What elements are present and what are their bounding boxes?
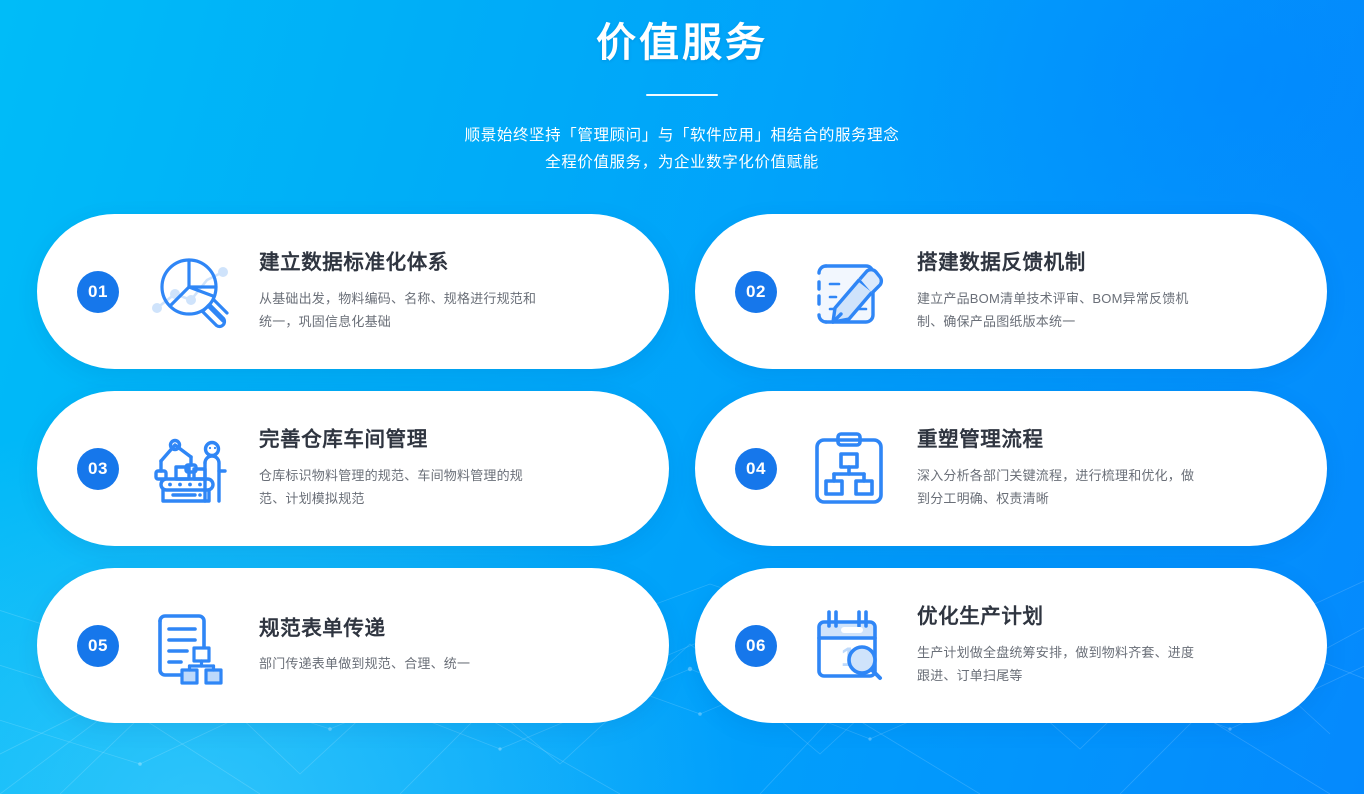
value-card-04[interactable]: 04 重塑管理流程 深入分析各部门关键流程，进行梳理和优化，做 xyxy=(695,391,1327,546)
card-title: 搭建数据反馈机制 xyxy=(917,250,1295,276)
page-header: 价值服务 顺景始终坚持「管理顾问」与「软件应用」相结合的服务理念 全程价值服务，… xyxy=(0,0,1364,176)
card-description: 部门传递表单做到规范、合理、统一 xyxy=(259,652,589,675)
title-divider xyxy=(646,94,718,96)
card-description-line-1: 部门传递表单做到规范、合理、统一 xyxy=(259,652,589,675)
clipboard-orgchart-icon xyxy=(797,419,901,519)
card-description-line-1: 从基础出发，物料编码、名称、规格进行规范和 xyxy=(259,287,589,310)
card-description-line-1: 建立产品BOM清单技术评审、BOM异常反馈机 xyxy=(917,287,1262,310)
card-description-line-1: 生产计划做全盘统筹安排，做到物料齐套、进度 xyxy=(917,641,1262,664)
card-text-block: 完善仓库车间管理 仓库标识物料管理的规范、车间物料管理的规 范、计划模拟规范 xyxy=(259,427,643,510)
card-description-line-1: 仓库标识物料管理的规范、车间物料管理的规 xyxy=(259,464,589,487)
card-number-badge: 04 xyxy=(735,448,777,490)
card-title: 完善仓库车间管理 xyxy=(259,427,637,453)
card-description-line-2: 统一，巩固信息化基础 xyxy=(259,310,589,333)
card-title: 重塑管理流程 xyxy=(917,427,1295,453)
value-card-01[interactable]: 01 xyxy=(37,214,669,369)
value-card-03[interactable]: 03 xyxy=(37,391,669,546)
card-description-line-1: 深入分析各部门关键流程，进行梳理和优化，做 xyxy=(917,464,1262,487)
value-card-02[interactable]: 02 xyxy=(695,214,1327,369)
card-text-block: 优化生产计划 生产计划做全盘统筹安排，做到物料齐套、进度 跟进、订单扫尾等 xyxy=(917,604,1301,687)
card-description: 仓库标识物料管理的规范、车间物料管理的规 范、计划模拟规范 xyxy=(259,464,589,510)
card-title: 优化生产计划 xyxy=(917,604,1295,630)
card-number-badge: 06 xyxy=(735,625,777,667)
pie-chart-magnifier-icon xyxy=(139,242,243,342)
card-description: 从基础出发，物料编码、名称、规格进行规范和 统一，巩固信息化基础 xyxy=(259,287,589,333)
card-description-line-2: 到分工明确、权责清晰 xyxy=(917,487,1262,510)
card-description-line-2: 范、计划模拟规范 xyxy=(259,487,589,510)
card-text-block: 建立数据标准化体系 从基础出发，物料编码、名称、规格进行规范和 统一，巩固信息化… xyxy=(259,250,643,333)
card-number-badge: 02 xyxy=(735,271,777,313)
calendar-magnifier-icon: 11 xyxy=(797,596,901,696)
card-description: 生产计划做全盘统筹安排，做到物料齐套、进度 跟进、订单扫尾等 xyxy=(917,641,1262,687)
card-text-block: 重塑管理流程 深入分析各部门关键流程，进行梳理和优化，做 到分工明确、权责清晰 xyxy=(917,427,1301,510)
page-subtitle: 顺景始终坚持「管理顾问」与「软件应用」相结合的服务理念 全程价值服务，为企业数字… xyxy=(0,122,1364,176)
value-service-card-grid: 01 xyxy=(37,214,1327,723)
card-description-line-2: 跟进、订单扫尾等 xyxy=(917,664,1262,687)
page-subtitle-line-2: 全程价值服务，为企业数字化价值赋能 xyxy=(0,149,1364,176)
card-title: 建立数据标准化体系 xyxy=(259,250,637,276)
page-subtitle-line-1: 顺景始终坚持「管理顾问」与「软件应用」相结合的服务理念 xyxy=(0,122,1364,149)
card-text-block: 搭建数据反馈机制 建立产品BOM清单技术评审、BOM异常反馈机 制、确保产品图纸… xyxy=(917,250,1301,333)
card-number-badge: 05 xyxy=(77,625,119,667)
page-title: 价值服务 xyxy=(0,14,1364,72)
card-number-badge: 01 xyxy=(77,271,119,313)
value-card-06[interactable]: 06 11 优化生产计划 xyxy=(695,568,1327,723)
factory-conveyor-worker-icon xyxy=(139,419,243,519)
card-text-block: 规范表单传递 部门传递表单做到规范、合理、统一 xyxy=(259,616,643,676)
card-description-line-2: 制、确保产品图纸版本统一 xyxy=(917,310,1262,333)
card-description: 建立产品BOM清单技术评审、BOM异常反馈机 制、确保产品图纸版本统一 xyxy=(917,287,1262,333)
document-pencil-icon xyxy=(797,242,901,342)
value-card-05[interactable]: 05 xyxy=(37,568,669,723)
card-number-badge: 03 xyxy=(77,448,119,490)
document-flowchart-icon xyxy=(139,596,243,696)
card-title: 规范表单传递 xyxy=(259,616,637,642)
card-description: 深入分析各部门关键流程，进行梳理和优化，做 到分工明确、权责清晰 xyxy=(917,464,1262,510)
